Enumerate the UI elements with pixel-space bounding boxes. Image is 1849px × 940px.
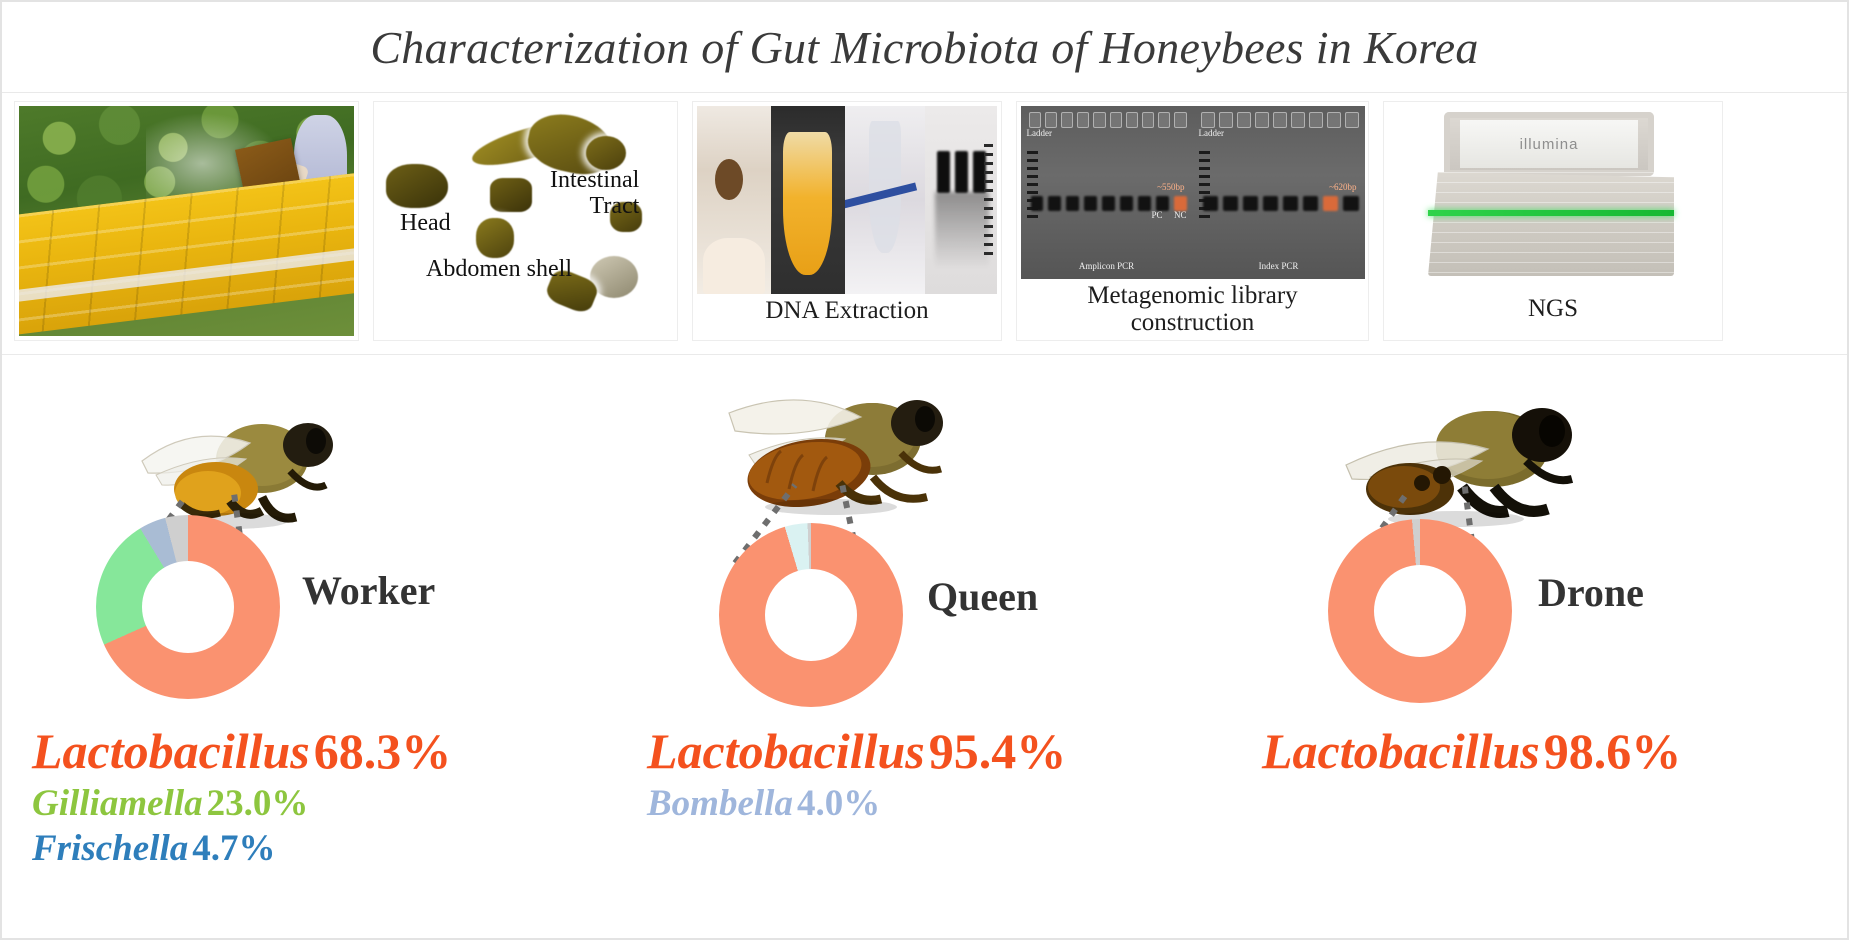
abdomen-segment-1 [490,178,532,212]
worker-bee-image [112,401,342,533]
gel-label-ladder: Ladder [1027,128,1052,138]
caste-worker: Worker Lactobacillus 68.3% Gilliamella 2… [2,355,617,935]
gel-well [1255,112,1269,128]
gel-index-pcr: Ladder ~620bp Index PCR [1193,106,1365,279]
taxon-row: Lactobacillus 95.4% [647,723,1226,779]
gel-well [1174,112,1186,128]
gel-label-amplicon-pcr: Amplicon PCR [1079,261,1134,271]
workflow-row: Head Intestinal Tract Abdomen shell [2,93,1847,355]
donut-hole [1374,565,1466,657]
gel-band [1223,196,1238,211]
gel-well [1142,112,1154,128]
taxon-genus: Lactobacillus [1262,723,1540,779]
taxon-genus: Bombella [647,783,793,824]
graphical-abstract: Characterization of Gut Microbiota of Ho… [0,0,1849,940]
gel-band-row [1031,196,1187,211]
gel-well [1045,112,1057,128]
gel-band [1283,196,1298,211]
caste-drone: Drone Lactobacillus 98.6% [1232,355,1847,935]
gel-band [1138,196,1151,211]
label-head: Head [400,210,451,237]
queen-taxa-list: Lactobacillus 95.4% Bombella 4.0% [647,723,1226,828]
illumina-brand-text: illumina [1520,136,1579,153]
gel-amplicon-pcr: Ladder ~550bp PC NC Amplicon PCR [1021,106,1193,279]
gel-band [1031,196,1044,211]
gel-well [1110,112,1122,128]
taxon-genus: Gilliamella [32,783,203,824]
gel-band [1120,196,1133,211]
gel-band [1102,196,1115,211]
queen-donut-chart [719,523,903,707]
bee-head-part [386,164,448,208]
gel-band-row [1203,196,1359,211]
gel-well [1093,112,1105,128]
donut-hole [765,569,857,661]
gel-band-marked [1323,196,1338,211]
taxon-percent: 4.0% [797,783,880,824]
drone-donut-chart [1328,519,1512,703]
taxon-percent: 4.7% [192,828,275,869]
gel-band [1048,196,1061,211]
taxon-percent: 68.3% [314,723,452,779]
sequencer-monitor: illumina [1444,112,1654,176]
abdomen-segment-2 [476,218,514,258]
results-row: Worker Lactobacillus 68.3% Gilliamella 2… [2,355,1847,935]
label-abdomen-shell: Abdomen shell [426,256,572,283]
gel-well [1237,112,1251,128]
gel-label-pc: PC [1151,210,1162,220]
taxon-genus: Lactobacillus [32,723,310,779]
gel-band [1203,196,1218,211]
gel-wells [1029,112,1187,128]
tube-with-tissue [697,106,771,294]
dna-extraction-photo [697,106,997,294]
gut-part-3 [586,136,626,170]
caption-ngs: NGS [1528,296,1578,323]
gel-band [1303,196,1318,211]
gel-well [1345,112,1359,128]
caption-library-line1: Metagenomic library [1087,283,1297,310]
sequencer-screen: illumina [1460,120,1638,168]
queen-bee-image [705,377,955,519]
sequencer-status-light [1428,210,1674,216]
taxon-row: Lactobacillus 98.6% [1262,723,1841,779]
gel-well [1126,112,1138,128]
gel-label-index-pcr: Index PCR [1259,261,1299,271]
gel-well [1077,112,1089,128]
gel-well [1291,112,1305,128]
taxon-percent: 95.4% [929,723,1067,779]
gel-well [1219,112,1233,128]
label-intestinal-line2: Tract [550,194,639,220]
gel-band [1243,196,1258,211]
gel-well [1061,112,1073,128]
caste-label-queen: Queen [927,573,1038,620]
gel-band [1263,196,1278,211]
gel-well [1029,112,1041,128]
caption-dna-extraction: DNA Extraction [765,298,928,325]
gel-band [1156,196,1169,211]
sequencer-vent-lines [1428,172,1674,276]
worker-donut-chart [96,515,280,699]
workflow-panel-dissection: Head Intestinal Tract Abdomen shell [373,101,678,341]
gel-label-size: ~620bp [1329,182,1356,192]
gel-smear [935,192,989,267]
taxon-genus: Lactobacillus [647,723,925,779]
gel-band [1066,196,1079,211]
taxon-row: Frischella 4.7% [32,828,611,869]
taxon-percent: 98.6% [1544,723,1682,779]
taxon-row: Bombella 4.0% [647,783,1226,824]
workflow-panel-dna-extraction: DNA Extraction [692,101,1002,341]
gel-ladder [984,144,993,257]
gel-band [937,151,950,193]
taxon-percent: 23.0% [207,783,309,824]
caption-library-line2: construction [1087,310,1297,337]
page-title: Characterization of Gut Microbiota of Ho… [370,21,1478,74]
workflow-panel-apiary [14,101,359,341]
worker-taxa-list: Lactobacillus 68.3% Gilliamella 23.0% Fr… [32,723,611,874]
gel-electrophoresis-photo: Ladder ~550bp PC NC Amplicon PCR [1021,106,1365,279]
caption-library-construction: Metagenomic library construction [1087,283,1297,336]
gel-band [1084,196,1097,211]
drone-taxa-list: Lactobacillus 98.6% [1262,723,1841,783]
gel-label-size: ~550bp [1157,182,1184,192]
taxon-row: Lactobacillus 68.3% [32,723,611,779]
gel-well [1158,112,1170,128]
caste-label-drone: Drone [1538,569,1644,616]
workflow-panel-library: Ladder ~550bp PC NC Amplicon PCR [1016,101,1369,341]
bee-dissection-photo: Head Intestinal Tract Abdomen shell [378,106,673,336]
taxon-genus: Frischella [32,828,188,869]
drone-bee-image [1336,391,1586,531]
gel-band [1343,196,1358,211]
apiary-photo [19,106,354,336]
gel-well [1273,112,1287,128]
gel-band-marked [1174,196,1187,211]
title-band: Characterization of Gut Microbiota of Ho… [2,2,1847,93]
gel-well [1201,112,1215,128]
gel-wells [1201,112,1359,128]
caste-label-worker: Worker [302,567,435,614]
gel-well [1327,112,1341,128]
gel-label-ladder: Ladder [1199,128,1224,138]
label-intestinal-tract: Intestinal Tract [550,168,639,220]
gel-well [1309,112,1323,128]
dna-gel [925,106,997,294]
sequencer-photo: illumina [1388,106,1718,292]
gel-label-nc: NC [1174,210,1187,220]
gel-band [955,151,968,193]
donut-hole [142,561,234,653]
taxon-row: Gilliamella 23.0% [32,783,611,824]
label-intestinal-line1: Intestinal [550,168,639,194]
tube-lysate [771,106,845,294]
caste-queen: Queen Lactobacillus 95.4% Bombella 4.0% [617,355,1232,935]
tube-in-glove [845,106,925,294]
workflow-panel-ngs: illumina NGS [1383,101,1723,341]
